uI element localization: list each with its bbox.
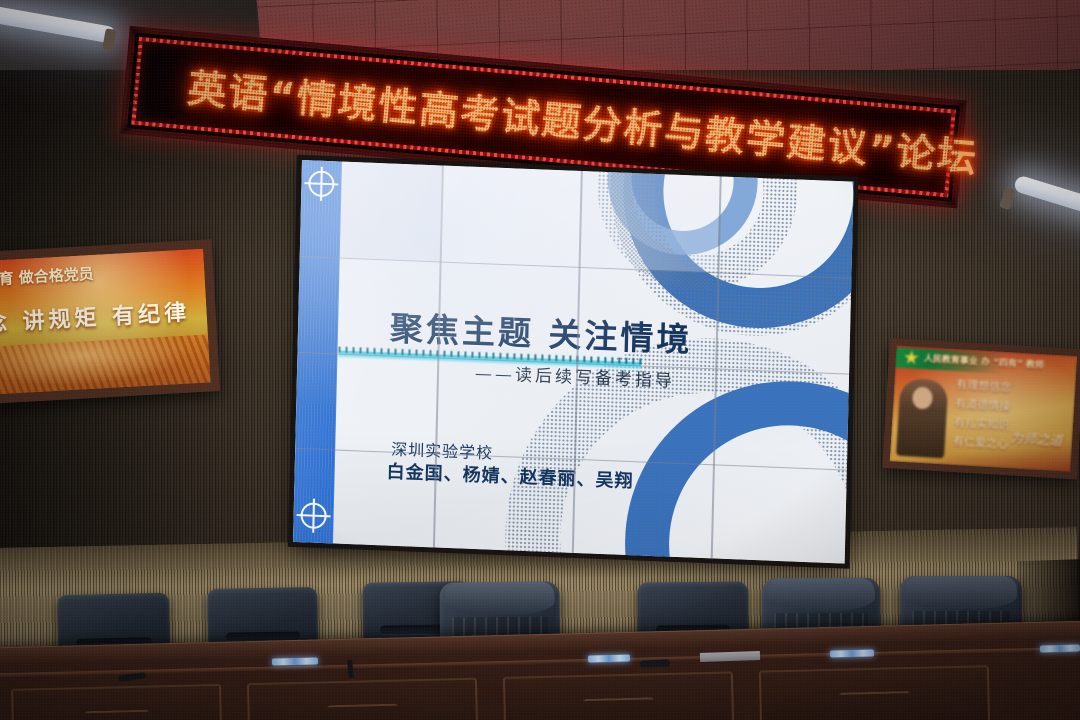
desk-front-panel [503, 671, 734, 720]
presentation-slide: 聚焦主题 关注情境 ——读后续写备考指导 深圳实验学校 白金国、杨婧、赵春丽、吴… [293, 160, 854, 564]
registration-crosshair-icon [300, 502, 327, 529]
desk-front-panel [759, 665, 990, 720]
desk-led-indicator [830, 649, 874, 657]
banner-left-scroll-graphic [0, 335, 211, 395]
banner-blur-overlay [890, 345, 1078, 472]
led-video-wall[interactable]: 聚焦主题 关注情境 ——读后续写备考指导 深圳实验学校 白金国、杨婧、赵春丽、吴… [293, 160, 854, 564]
banner-left-top-line: 育 做合格党员 [0, 257, 199, 289]
party-member-banner: 育 做合格党员 念 讲规矩 有纪律 行 讲奉献 有作为 [0, 239, 220, 404]
desk-front-panel [11, 684, 222, 720]
desk-led-indicator [1040, 645, 1080, 653]
desk-led-indicator [588, 654, 630, 662]
registration-crosshair-icon [308, 170, 335, 197]
teacher-ethics-banner: 人民教育事业 办 “四有” 教师 有理想信念 有道德情操 有扎实知识 有仁爱之心… [882, 338, 1080, 479]
desk-front-panel [247, 678, 478, 720]
desk-led-indicator [272, 657, 318, 665]
conference-hall-photo: 英语“情境性高考试题分析与教学建议”论坛 聚焦主题 关注情境 ——读后续写备考指… [0, 0, 1080, 720]
video-wall-side-strip [293, 160, 342, 543]
panel-tint [340, 162, 442, 261]
